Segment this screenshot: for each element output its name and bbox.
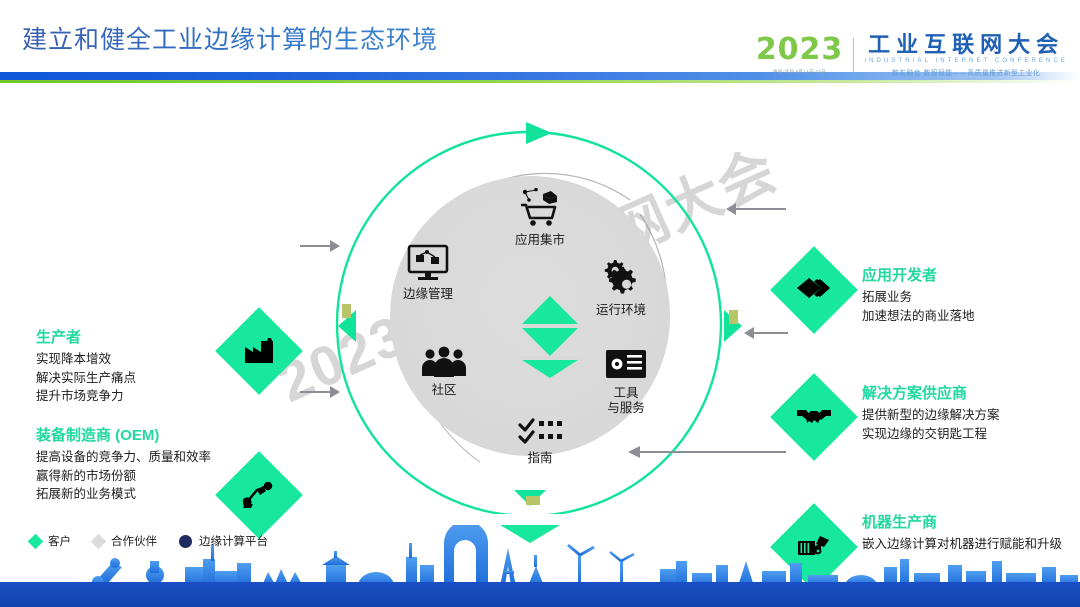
node-label: 应用集市 (494, 233, 586, 248)
gears-icon (575, 256, 667, 298)
logo-divider (853, 38, 854, 72)
handshake-icon (797, 405, 831, 429)
block-title: 应用开发者 (862, 264, 1077, 285)
checklist-icon (494, 404, 586, 446)
header-rule-green (0, 80, 1080, 83)
logo-year: 2023 (756, 35, 844, 65)
logo-name-block: 工业互联网大会 INDUSTRIAL INTERNET CONFERENCE 数… (864, 33, 1068, 77)
node-app-market[interactable]: 应用集市 (494, 186, 586, 248)
node-label: 指南 (494, 451, 586, 466)
node-edge-management[interactable]: 边缘管理 (382, 240, 474, 302)
node-label: 运行环境 (575, 303, 667, 318)
text-block-oem: 装备制造商 (OEM) 提高设备的竞争力、质量和效率 赢得新的市场份额 拓展新的… (36, 424, 251, 504)
footer-band (0, 582, 1080, 607)
slide-footer (0, 525, 1080, 607)
block-line: 实现边缘的交钥匙工程 (862, 425, 1080, 444)
slide-body: 2023工业互联网大会 (0, 96, 1080, 536)
badge-app-developer[interactable] (770, 246, 858, 334)
logo-year-block: 2023 中国·深圳 9月14日-16日 (756, 35, 844, 75)
block-line: 拓展业务 (862, 288, 1077, 307)
node-label: 工具 与服务 (580, 386, 672, 416)
text-block-app-developer: 应用开发者 拓展业务 加速想法的商业落地 (862, 264, 1077, 325)
slide-header: 建立和健全工业边缘计算的生态环境 2023 中国·深圳 9月14日-16日 工业… (0, 0, 1080, 96)
node-runtime-environment[interactable]: 运行环境 (575, 256, 667, 318)
text-block-producer: 生产者 实现降本增效 解决实际生产痛点 提升市场竞争力 (36, 326, 246, 406)
block-line: 加速想法的商业落地 (862, 307, 1077, 326)
logo-name-cn: 工业互联网大会 (864, 33, 1068, 56)
node-tools-and-services[interactable]: 工具 与服务 (580, 339, 672, 416)
block-title: 解决方案供应商 (862, 382, 1080, 403)
node-label: 社区 (398, 383, 490, 398)
server-gear-icon (580, 339, 672, 381)
text-block-solution-provider: 解决方案供应商 提供新型的边缘解决方案 实现边缘的交钥匙工程 (862, 382, 1080, 443)
connector-arrow-appdev (724, 198, 786, 220)
node-label: 边缘管理 (382, 287, 474, 302)
block-line: 赢得新的市场份额 (36, 467, 251, 486)
block-line: 提高设备的竞争力、质量和效率 (36, 448, 251, 467)
logo-name-en: INDUSTRIAL INTERNET CONFERENCE (864, 58, 1068, 64)
block-line: 实现降本增效 (36, 350, 246, 369)
block-title: 生产者 (36, 326, 246, 347)
connector-arrow-oem (300, 382, 340, 402)
monitor-icon (382, 240, 474, 282)
factory-icon (244, 338, 274, 364)
block-line: 提供新型的边缘解决方案 (862, 406, 1080, 425)
conference-logo: 2023 中国·深圳 9月14日-16日 工业互联网大会 INDUSTRIAL … (756, 33, 1068, 77)
node-community[interactable]: 社区 (398, 336, 490, 398)
connector-arrow-producer (300, 236, 340, 256)
block-line: 解决实际生产痛点 (36, 369, 246, 388)
block-title: 装备制造商 (OEM) (36, 424, 251, 445)
connector-arrow-solution (742, 322, 788, 344)
logo-tagline: 数实融合 数智赋能——高质量推进新型工业化 (864, 67, 1068, 77)
connector-arrow-machine (626, 440, 786, 464)
node-guide[interactable]: 指南 (494, 404, 586, 466)
block-line: 提升市场竞争力 (36, 387, 246, 406)
block-line: 拓展新的业务模式 (36, 485, 251, 504)
people-icon (398, 336, 490, 378)
page-title: 建立和健全工业边缘计算的生态环境 (22, 20, 438, 56)
layers-icon (797, 276, 831, 304)
logo-year-subtitle: 中国·深圳 9月14日-16日 (756, 69, 844, 75)
shopping-cart-icon (494, 186, 586, 228)
